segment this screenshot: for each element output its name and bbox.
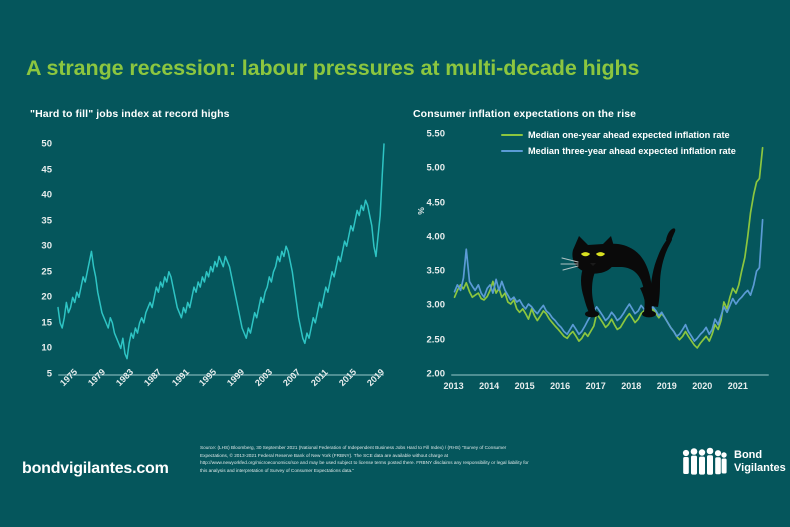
logo-text: Bond Vigilantes <box>734 449 786 475</box>
infographic-page: A strange recession: labour pressures at… <box>0 0 790 527</box>
page-title: A strange recession: labour pressures at… <box>26 56 639 81</box>
chart-title-right: Consumer inflation expectations on the r… <box>413 108 777 120</box>
series-group-inflation-expectations <box>405 126 777 416</box>
series-line <box>58 144 384 359</box>
series-group-hard-to-fill <box>22 126 392 416</box>
logo-line-1: Bond <box>734 449 786 462</box>
chart-panel-hard-to-fill: "Hard to fill" jobs index at record high… <box>22 108 392 416</box>
logo-line-2: Vigilantes <box>734 462 786 475</box>
people-group-icon <box>681 447 727 477</box>
chart-panel-inflation: Consumer inflation expectations on the r… <box>405 108 777 416</box>
plot-area-left: 5101520253035404550197519791983198719911… <box>22 126 392 416</box>
chart-title-left: "Hard to fill" jobs index at record high… <box>30 108 392 120</box>
footer-source-note: Source: (LHS) Bloomberg, 30 September 20… <box>200 444 530 474</box>
footer-website[interactable]: bondvigilantes.com <box>22 460 169 478</box>
bond-vigilantes-logo[interactable]: Bond Vigilantes <box>681 447 786 477</box>
plot-area-right: Median one-year ahead expected inflation… <box>405 126 777 416</box>
